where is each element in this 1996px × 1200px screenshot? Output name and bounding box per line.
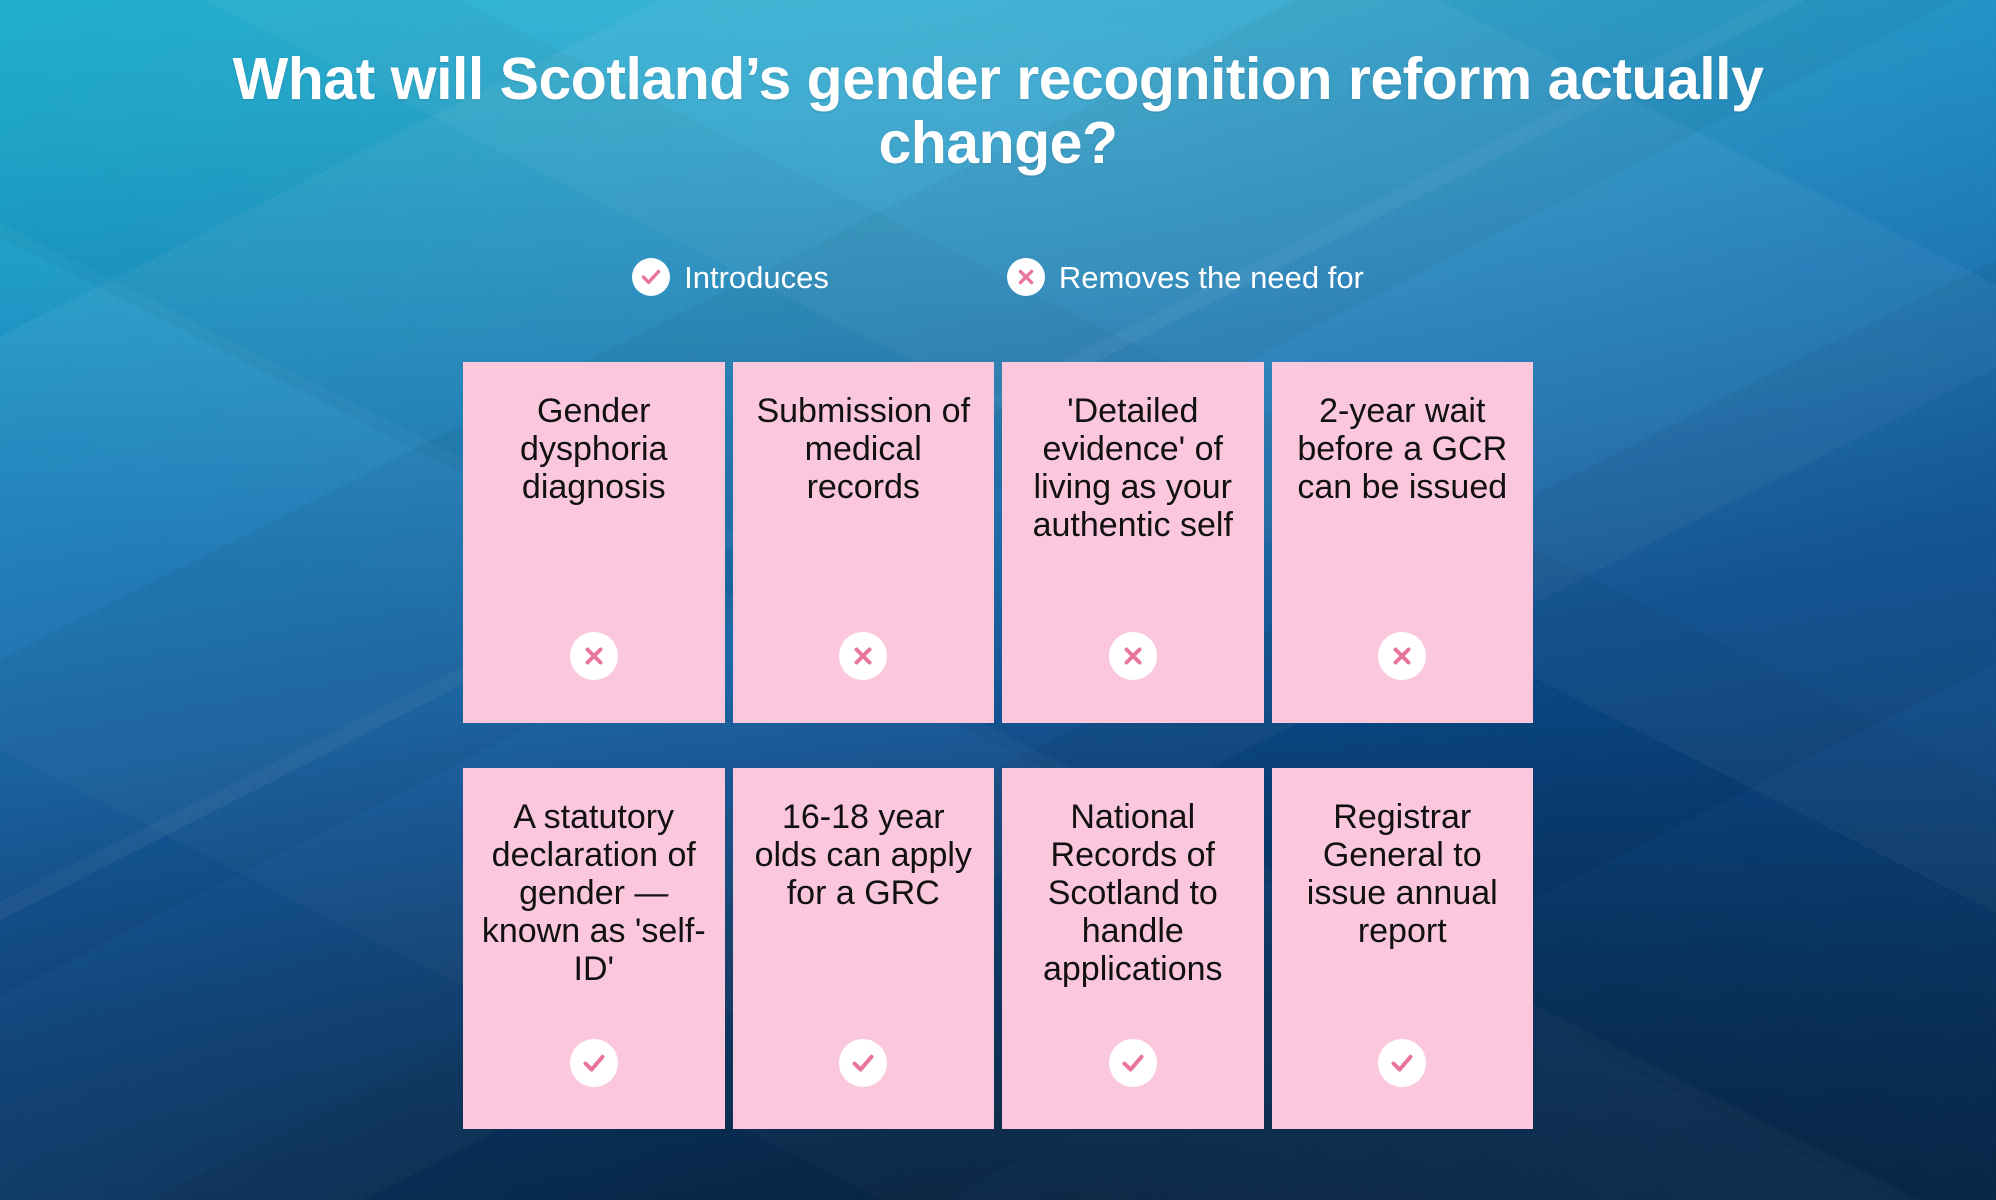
cross-icon: [1007, 258, 1045, 296]
legend: Introduces Removes the need for: [0, 258, 1996, 296]
card: Gender dysphoria diagnosis: [463, 362, 725, 723]
card-text: 2-year wait before a GCR can be issued: [1286, 392, 1520, 506]
cross-icon: [1378, 632, 1426, 680]
infographic-root: What will Scotland’s gender recognition …: [0, 0, 1996, 1200]
page-title: What will Scotland’s gender recognition …: [0, 48, 1996, 175]
card-row-introduces: A statutory declaration of gender — know…: [463, 768, 1533, 1129]
card-text: 16-18 year olds can apply for a GRC: [747, 798, 981, 912]
check-icon: [839, 1039, 887, 1087]
card-grid: Gender dysphoria diagnosis Submission of…: [463, 362, 1533, 1129]
cross-icon: [1109, 632, 1157, 680]
card: 'Detailed evidence' of living as your au…: [1002, 362, 1264, 723]
card-row-removes: Gender dysphoria diagnosis Submission of…: [463, 362, 1533, 723]
card: 16-18 year olds can apply for a GRC: [733, 768, 995, 1129]
card-text: Registrar General to issue annual report: [1286, 798, 1520, 950]
card: Submission of medical records: [733, 362, 995, 723]
check-icon: [570, 1039, 618, 1087]
card: A statutory declaration of gender — know…: [463, 768, 725, 1129]
legend-label: Removes the need for: [1059, 262, 1364, 293]
card-text: Submission of medical records: [747, 392, 981, 506]
card: Registrar General to issue annual report: [1272, 768, 1534, 1129]
check-icon: [1109, 1039, 1157, 1087]
card-text: 'Detailed evidence' of living as your au…: [1016, 392, 1250, 544]
card-text: A statutory declaration of gender — know…: [477, 798, 711, 988]
card: 2-year wait before a GCR can be issued: [1272, 362, 1534, 723]
card-text: Gender dysphoria diagnosis: [477, 392, 711, 506]
card-text: National Records of Scotland to handle a…: [1016, 798, 1250, 988]
check-icon: [632, 258, 670, 296]
legend-item-introduces: Introduces: [632, 258, 829, 296]
legend-item-removes: Removes the need for: [1007, 258, 1364, 296]
cross-icon: [839, 632, 887, 680]
card: National Records of Scotland to handle a…: [1002, 768, 1264, 1129]
legend-label: Introduces: [684, 262, 829, 293]
cross-icon: [570, 632, 618, 680]
check-icon: [1378, 1039, 1426, 1087]
